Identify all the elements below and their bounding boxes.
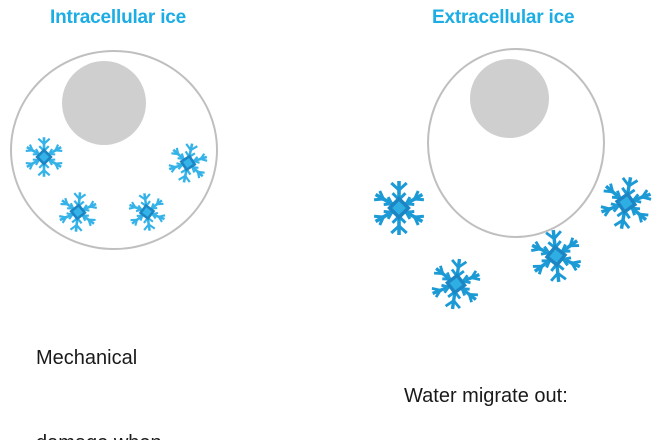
- snowflake-icon: [524, 224, 588, 288]
- snowflake-icon: [162, 137, 214, 189]
- caption-right-heading: Water migrate out:: [404, 382, 568, 410]
- caption-left-line-2: damage when: [36, 429, 162, 440]
- snowflake-icon: [123, 188, 170, 235]
- snowflake-icon: [369, 178, 429, 238]
- snowflake-icon: [54, 188, 102, 236]
- slide-canvas: Intracellular ice: [0, 0, 666, 440]
- panel-title-intracellular: Intracellular ice: [50, 7, 186, 29]
- snowflake-icon: [592, 169, 659, 236]
- snowflake-icon: [424, 252, 487, 315]
- cell-nucleus-left: [62, 61, 146, 145]
- caption-left: Mechanical damage when thawing: [36, 287, 162, 440]
- caption-right: Water migrate out: - Dehydration - Shrin…: [404, 325, 568, 440]
- caption-left-line-1: Mechanical: [36, 344, 162, 372]
- snowflake-icon: [22, 135, 66, 179]
- cell-nucleus-right: [470, 59, 549, 138]
- panel-title-extracellular: Extracellular ice: [432, 7, 574, 29]
